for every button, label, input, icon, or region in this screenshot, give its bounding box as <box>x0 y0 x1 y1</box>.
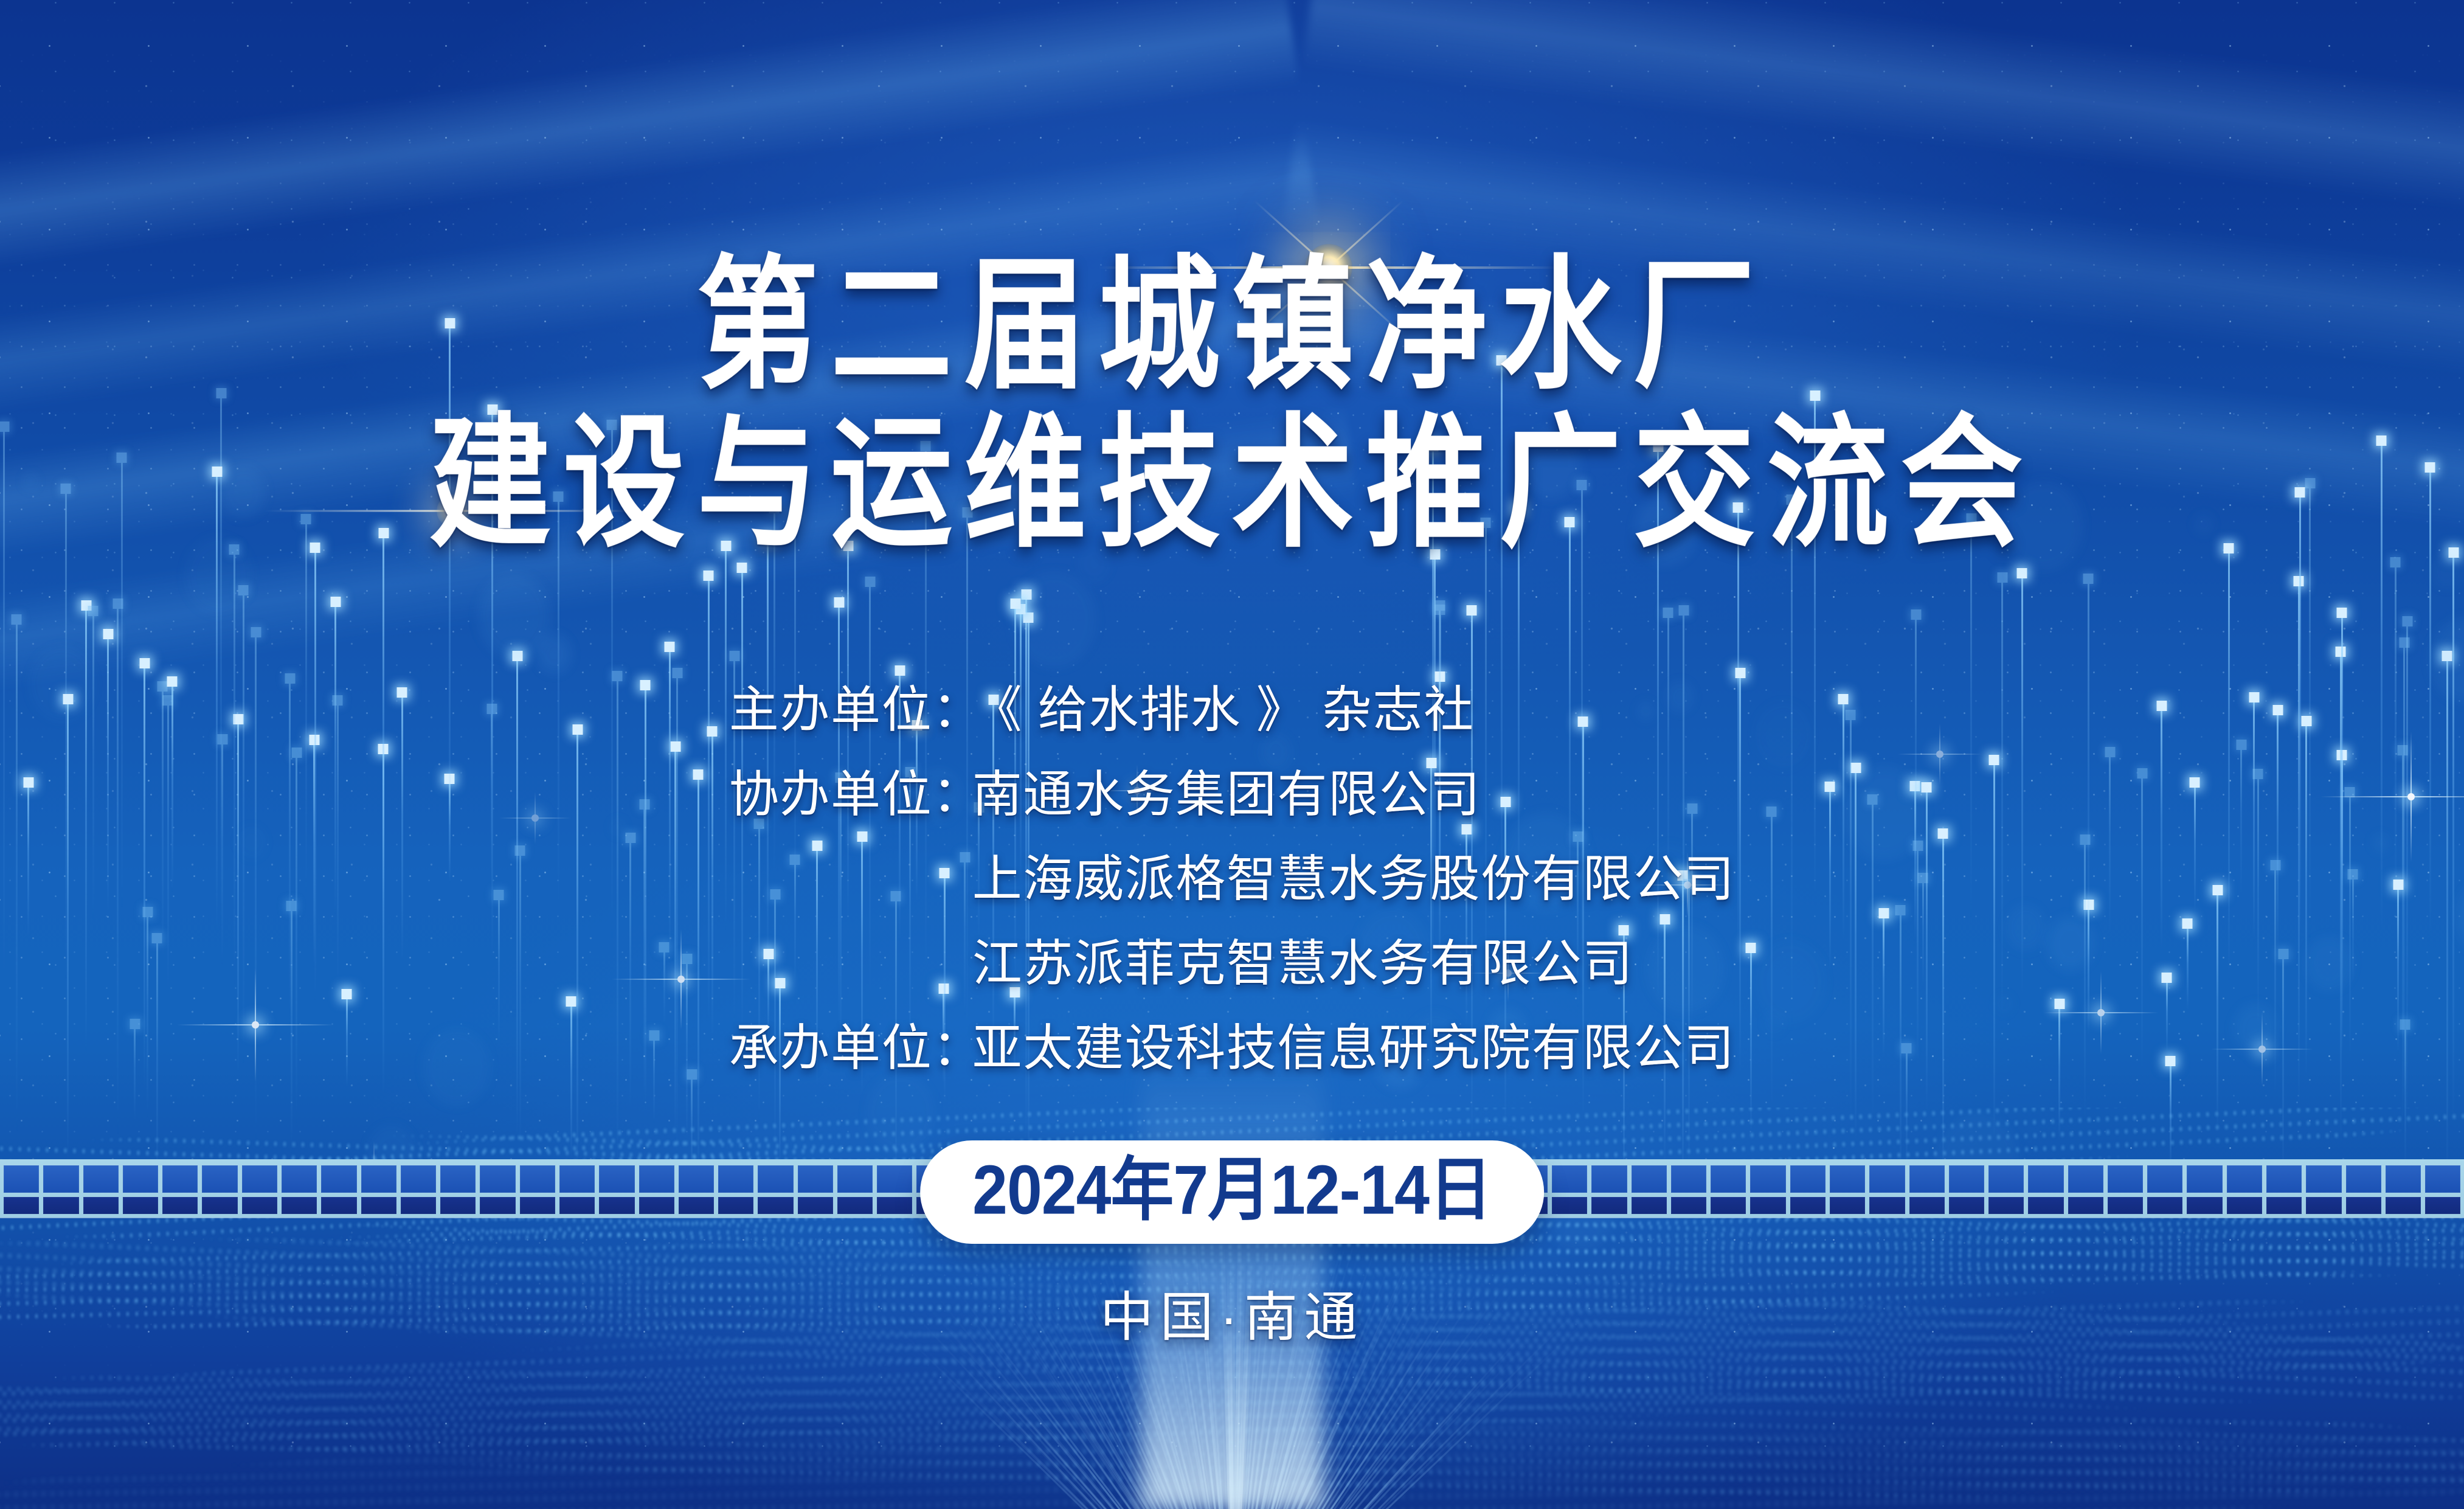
poster-title: 第二届城镇净水厂 建设与运维技术推广交流会 <box>0 260 2464 550</box>
organizer-row: 协办单位：上海威派格智慧水务股份有限公司 <box>729 838 1736 911</box>
organizer-label: 主办单位： <box>729 669 972 741</box>
title-line-1: 第二届城镇净水厂 <box>0 249 2464 404</box>
organizer-value: 南通水务集团有限公司 <box>972 754 1736 826</box>
organizer-row: 协办单位：江苏派菲克智慧水务有限公司 <box>729 923 1736 995</box>
organizer-label: 承办单位： <box>729 1007 972 1080</box>
location-text: 中国·南通 <box>1100 1287 1364 1347</box>
poster-content: 第二届城镇净水厂 建设与运维技术推广交流会 主办单位：《 给水排水 》 杂志社协… <box>0 0 2464 1509</box>
title-line-2: 建设与运维技术推广交流会 <box>0 407 2464 562</box>
conference-poster: 第二届城镇净水厂 建设与运维技术推广交流会 主办单位：《 给水排水 》 杂志社协… <box>0 0 2464 1509</box>
organizer-row: 承办单位：亚太建设科技信息研究院有限公司 <box>729 1007 1736 1080</box>
organizer-value: 上海威派格智慧水务股份有限公司 <box>972 838 1736 911</box>
organizer-value: 《 给水排水 》 杂志社 <box>972 669 1736 741</box>
organizer-label: 协办单位： <box>729 754 972 826</box>
date-badge: 2024年7月12-14日 <box>920 1140 1544 1244</box>
organizer-value: 江苏派菲克智慧水务有限公司 <box>972 923 1736 995</box>
location-block: 中国·南通 <box>0 1274 2464 1351</box>
organizers-block: 主办单位：《 给水排水 》 杂志社协办单位：南通水务集团有限公司协办单位：上海威… <box>0 669 2464 1080</box>
organizer-row: 协办单位：南通水务集团有限公司 <box>729 754 1736 826</box>
organizer-row: 主办单位：《 给水排水 》 杂志社 <box>729 669 1736 741</box>
organizer-value: 亚太建设科技信息研究院有限公司 <box>972 1007 1736 1080</box>
date-badge-text: 2024年7月12-14日 <box>972 1151 1492 1229</box>
